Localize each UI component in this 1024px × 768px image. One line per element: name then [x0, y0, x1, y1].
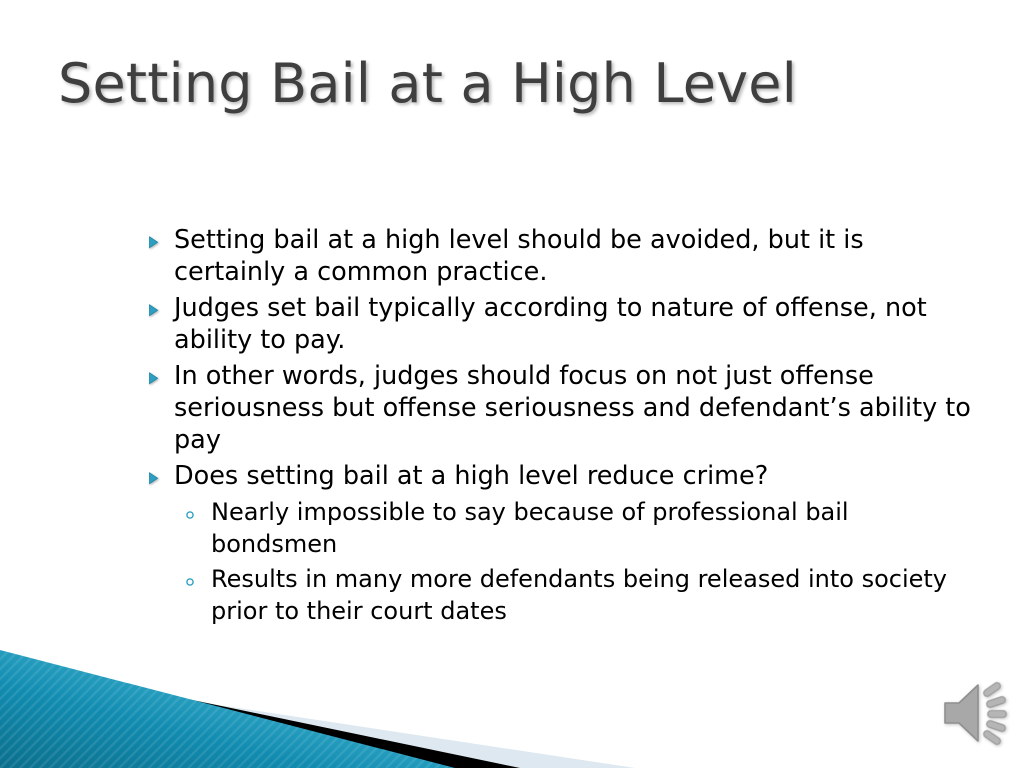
sub-bullet-text: Results in many more defendants being re…	[211, 563, 976, 628]
triangle-right-bullet-icon	[146, 292, 174, 318]
sub-bullet-item: Nearly impossible to say because of prof…	[184, 496, 976, 561]
bottom-left-diagonal-bands	[0, 628, 700, 768]
black-stripe	[0, 660, 520, 768]
hollow-circle-bullet-icon	[184, 496, 211, 521]
bullet-text: Setting bail at a high level should be a…	[174, 224, 976, 290]
sub-bullet-item: Results in many more defendants being re…	[184, 563, 976, 628]
triangle-right-bullet-icon	[146, 460, 174, 486]
bullet-text: Does setting bail at a high level reduce…	[174, 460, 976, 494]
bullet-item: Judges set bail typically according to n…	[146, 292, 976, 358]
presentation-slide: Setting Bail at a High Level Setting bai…	[0, 0, 1024, 768]
triangle-right-bullet-icon	[146, 360, 174, 386]
bullet-text: Judges set bail typically according to n…	[174, 292, 976, 358]
bullet-item: In other words, judges should focus on n…	[146, 360, 976, 458]
slide-body-content: Setting bail at a high level should be a…	[146, 224, 976, 630]
slide-title: Setting Bail at a High Level	[58, 54, 958, 113]
sub-bullet-text: Nearly impossible to say because of prof…	[211, 496, 976, 561]
bullet-item: Setting bail at a high level should be a…	[146, 224, 976, 290]
teal-wedge	[0, 650, 455, 768]
speaker-icon[interactable]	[933, 676, 1011, 750]
triangle-right-bullet-icon	[146, 224, 174, 250]
hollow-circle-bullet-icon	[184, 563, 211, 588]
bullet-item: Does setting bail at a high level reduce…	[146, 460, 976, 494]
pale-band	[0, 672, 635, 768]
bullet-text: In other words, judges should focus on n…	[174, 360, 976, 458]
